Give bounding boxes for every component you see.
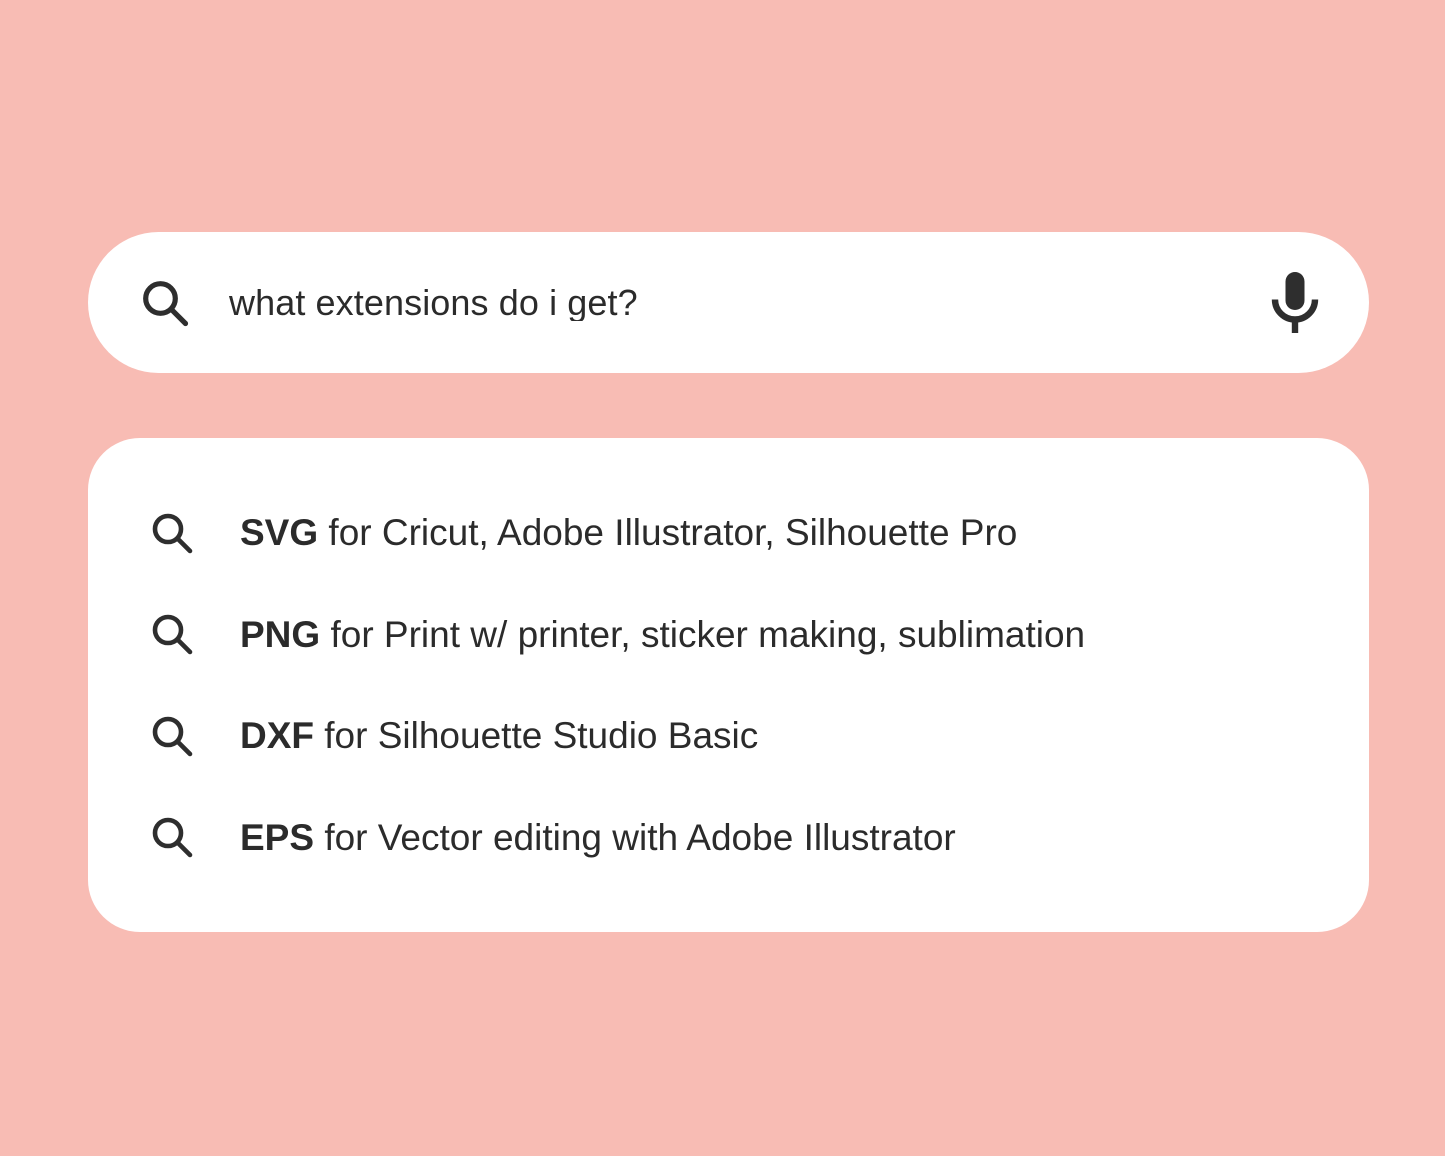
suggestion-item-svg[interactable]: SVG for Cricut, Adobe Illustrator, Silho… <box>88 482 1329 584</box>
suggestion-format: DXF <box>240 715 314 756</box>
suggestion-label: PNG for Print w/ printer, sticker making… <box>240 616 1085 653</box>
search-bar[interactable]: what extensions do i get? <box>88 232 1369 373</box>
suggestion-format: EPS <box>240 817 314 858</box>
suggestion-label: DXF for Silhouette Studio Basic <box>240 717 758 754</box>
search-input[interactable]: what extensions do i get? <box>229 285 1247 321</box>
search-icon <box>150 815 194 859</box>
suggestion-description: for Vector editing with Adobe Illustrato… <box>314 817 956 858</box>
suggestion-description: for Silhouette Studio Basic <box>314 715 758 756</box>
search-icon <box>150 714 194 758</box>
graphic-canvas: what extensions do i get? SVG for Cricut… <box>0 0 1445 1156</box>
suggestion-item-eps[interactable]: EPS for Vector editing with Adobe Illust… <box>88 787 1329 889</box>
suggestion-label: SVG for Cricut, Adobe Illustrator, Silho… <box>240 514 1017 551</box>
suggestion-description: for Cricut, Adobe Illustrator, Silhouett… <box>318 512 1017 553</box>
suggestion-description: for Print w/ printer, sticker making, su… <box>320 614 1085 655</box>
suggestion-item-dxf[interactable]: DXF for Silhouette Studio Basic <box>88 685 1329 787</box>
suggestion-item-png[interactable]: PNG for Print w/ printer, sticker making… <box>88 584 1329 686</box>
microphone-icon[interactable] <box>1267 269 1323 337</box>
suggestion-label: EPS for Vector editing with Adobe Illust… <box>240 819 956 856</box>
suggestions-list: SVG for Cricut, Adobe Illustrator, Silho… <box>88 438 1369 932</box>
search-icon[interactable] <box>140 278 190 328</box>
suggestion-format: PNG <box>240 614 320 655</box>
search-icon <box>150 511 194 555</box>
search-icon <box>150 612 194 656</box>
suggestion-format: SVG <box>240 512 318 553</box>
